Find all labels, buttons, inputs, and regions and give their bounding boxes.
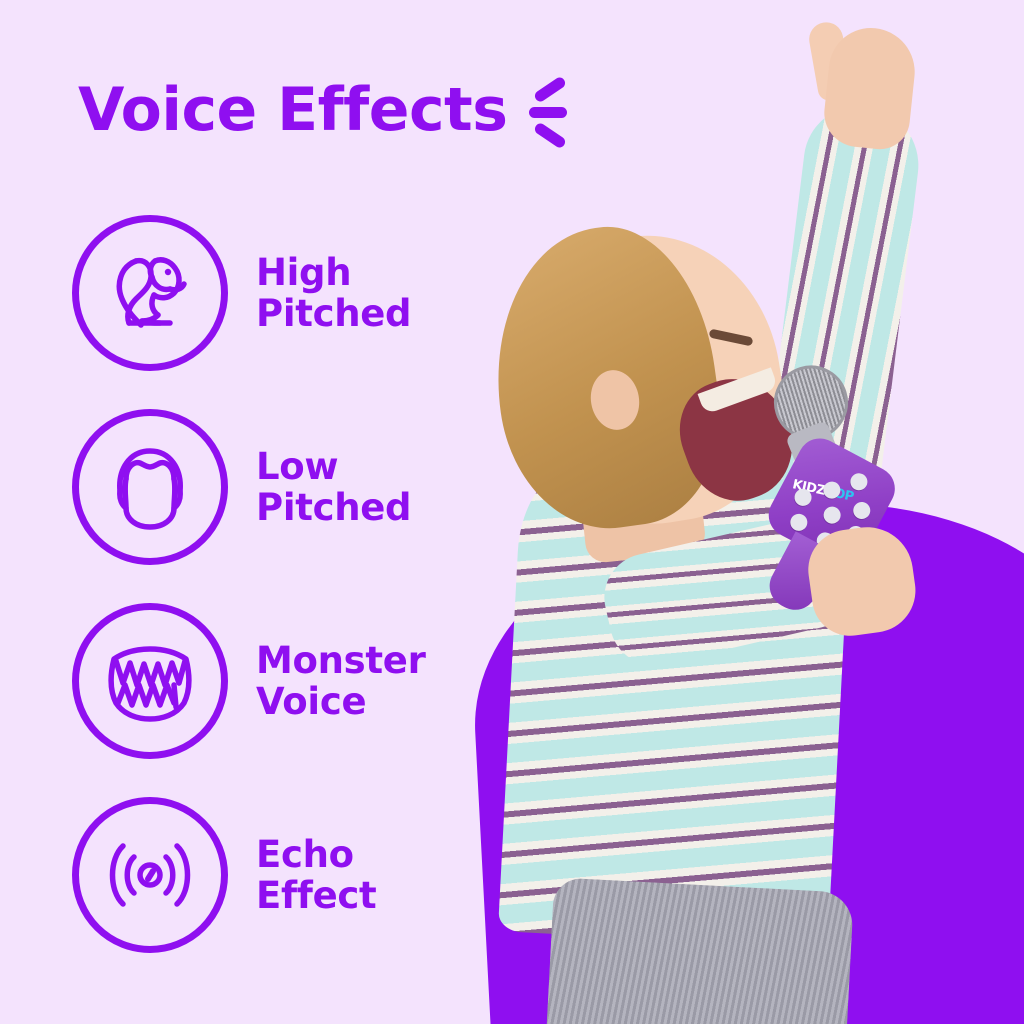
voice-effects-list: High Pitched Low Pitched	[72, 212, 502, 956]
sound-lines-icon	[525, 76, 569, 148]
echo-waves-icon	[72, 797, 228, 953]
child-photo: KIDZBOP	[455, 0, 1024, 1024]
squirrel-icon	[72, 215, 228, 371]
microphone-button[interactable]	[821, 504, 844, 527]
feature-label: Monster Voice	[256, 640, 426, 723]
microphone-button[interactable]	[787, 511, 810, 534]
feature-label: High Pitched	[256, 252, 411, 335]
product-feature-graphic: KIDZBOP Voice Effects	[0, 0, 1024, 1024]
feature-label: Echo Effect	[256, 834, 376, 917]
microphone-button[interactable]	[850, 499, 873, 522]
grey-jeans	[546, 877, 854, 1024]
monster-mouth-icon	[72, 603, 228, 759]
feature-high-pitched: High Pitched	[72, 212, 502, 374]
hand-gripping-microphone	[803, 521, 921, 640]
feature-monster-voice: Monster Voice	[72, 600, 502, 762]
bearded-face-icon	[72, 409, 228, 565]
feature-echo-effect: Echo Effect	[72, 794, 502, 956]
page-title: Voice Effects	[78, 72, 569, 148]
page-title-text: Voice Effects	[78, 80, 507, 140]
feature-low-pitched: Low Pitched	[72, 406, 502, 568]
feature-label: Low Pitched	[256, 446, 411, 529]
